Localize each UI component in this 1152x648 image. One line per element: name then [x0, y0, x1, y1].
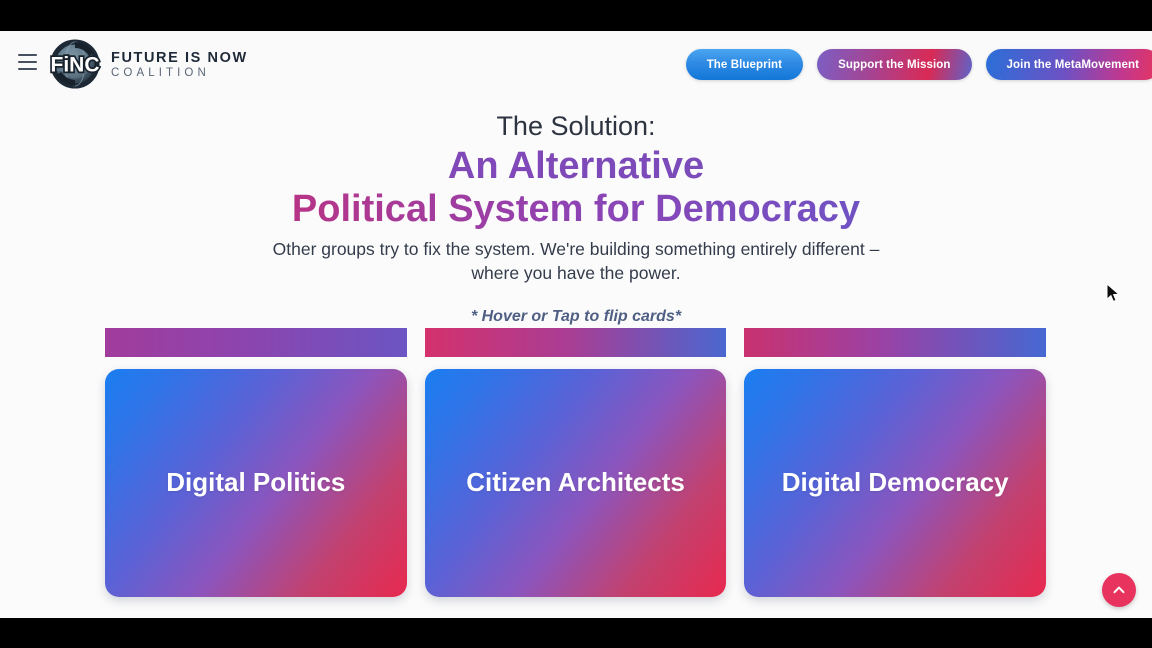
blueprint-button[interactable]: The Blueprint — [686, 49, 803, 80]
svg-text:FiNC: FiNC — [51, 54, 100, 77]
flip-card-title: Digital Democracy — [770, 467, 1021, 498]
card-heading-where-its-going: Where it's going — [744, 328, 1046, 357]
hero-headline-line-2: Political System for Democracy — [0, 188, 1152, 231]
header-actions: The Blueprint Support the Mission Join t… — [686, 49, 1152, 80]
card-heading-whos-involved: Who's involved — [425, 328, 727, 357]
flip-card-digital-democracy[interactable]: Digital Democracy — [744, 369, 1046, 597]
site-header: FiNC FUTURE IS NOW COALITION The Bluepri… — [0, 31, 1152, 98]
page-viewport: FiNC FUTURE IS NOW COALITION The Bluepri… — [0, 31, 1152, 618]
flip-card-citizen-architects[interactable]: Citizen Architects — [425, 369, 727, 597]
card-heading-what-it-is: What it is — [105, 328, 407, 357]
hamburger-bar — [18, 61, 37, 63]
hero-subtitle: Other groups try to fix the system. We'r… — [0, 238, 1152, 285]
hero-subtitle-line-2: where you have the power. — [0, 262, 1152, 286]
flip-card-digital-politics[interactable]: Digital Politics — [105, 369, 407, 597]
brand-line-2: COALITION — [111, 67, 248, 79]
card-column-what-it-is: What it is Digital Politics — [105, 328, 407, 597]
hero-headline-line-1: An Alternative — [0, 145, 1152, 188]
support-mission-button[interactable]: Support the Mission — [817, 49, 971, 80]
brand-line-1: FUTURE IS NOW — [111, 51, 248, 66]
brand-wordmark: FUTURE IS NOW COALITION — [111, 49, 248, 78]
join-metamovement-button[interactable]: Join the MetaMovement — [986, 49, 1152, 80]
screen: FiNC FUTURE IS NOW COALITION The Bluepri… — [0, 0, 1152, 648]
card-column-whos-involved: Who's involved Citizen Architects — [425, 328, 727, 597]
brand-logo-link[interactable]: FiNC FUTURE IS NOW COALITION — [45, 34, 248, 94]
flip-card-title: Citizen Architects — [454, 467, 697, 498]
hamburger-bar — [18, 68, 37, 70]
hero-eyebrow: The Solution: — [0, 111, 1152, 143]
hamburger-bar — [18, 54, 37, 56]
flip-cards-hint: * Hover or Tap to flip cards* — [0, 308, 1152, 326]
flip-card-grid: What it is Digital Politics Who's involv… — [105, 328, 1046, 597]
card-column-where-its-going: Where it's going Digital Democracy — [744, 328, 1046, 597]
letterbox-top-bar — [0, 0, 1152, 31]
scroll-to-top-button[interactable] — [1102, 573, 1136, 607]
hamburger-menu-icon[interactable] — [18, 54, 37, 70]
letterbox-bottom-bar — [0, 618, 1152, 648]
chevron-up-icon — [1111, 582, 1127, 598]
hero-section: The Solution: An Alternative Political S… — [0, 98, 1152, 326]
finc-globe-logo-icon: FiNC — [45, 34, 105, 94]
hero-subtitle-line-1: Other groups try to fix the system. We'r… — [0, 238, 1152, 262]
flip-card-title: Digital Politics — [154, 467, 357, 498]
